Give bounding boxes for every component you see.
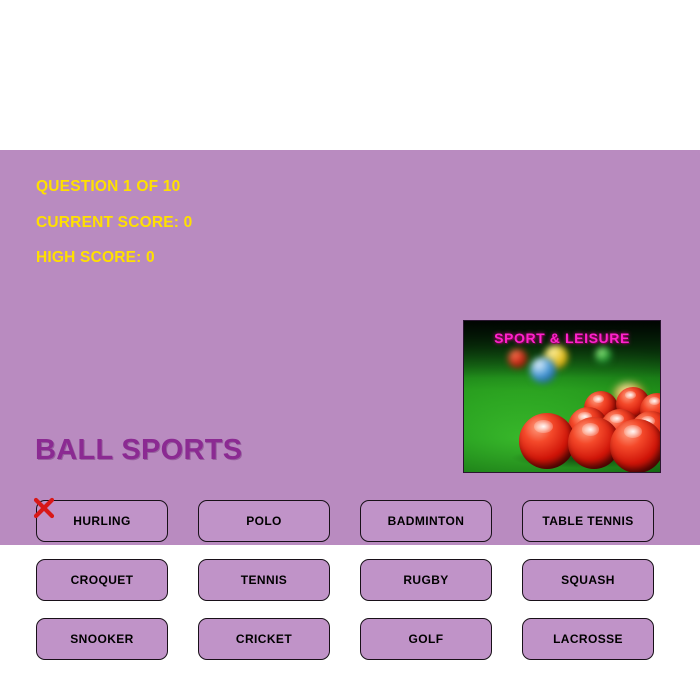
answer-button-tennis[interactable]: TENNIS — [198, 559, 330, 601]
blurred-blue-ball-icon — [530, 357, 556, 383]
high-score: HIGH SCORE: 0 — [36, 250, 436, 266]
answer-button-cricket[interactable]: CRICKET — [198, 618, 330, 660]
answer-row: CROQUET TENNIS RUGBY SQUASH — [36, 559, 660, 601]
answer-button-croquet[interactable]: CROQUET — [36, 559, 168, 601]
page-title: BALL SPORTS — [35, 436, 242, 465]
answer-button-rugby[interactable]: RUGBY — [360, 559, 492, 601]
current-score: CURRENT SCORE: 0 — [36, 215, 436, 231]
answer-button-polo[interactable]: POLO — [198, 500, 330, 542]
answer-button-lacrosse[interactable]: LACROSSE — [522, 618, 654, 660]
answer-button-golf[interactable]: GOLF — [360, 618, 492, 660]
red-ball-icon — [610, 419, 661, 473]
image-caption: SPORT & LEISURE — [464, 330, 660, 346]
topic-image: SPORT & LEISURE — [463, 320, 661, 473]
answer-button-table-tennis[interactable]: TABLE TENNIS — [522, 500, 654, 542]
answer-row: HURLING POLO BADMINTON TABLE TENNIS — [36, 500, 660, 542]
answer-row: SNOOKER CRICKET GOLF LACROSSE — [36, 618, 660, 660]
answer-button-hurling[interactable]: HURLING — [36, 500, 168, 542]
question-counter: QUESTION 1 OF 10 — [36, 179, 436, 195]
answer-button-squash[interactable]: SQUASH — [522, 559, 654, 601]
blurred-green-ball-icon — [595, 347, 612, 364]
answer-button-snooker[interactable]: SNOOKER — [36, 618, 168, 660]
answer-grid: HURLING POLO BADMINTON TABLE TENNIS CROQ… — [36, 500, 660, 677]
blurred-red-ball-icon — [508, 349, 527, 368]
answer-button-badminton[interactable]: BADMINTON — [360, 500, 492, 542]
status-block: QUESTION 1 OF 10 CURRENT SCORE: 0 HIGH S… — [36, 179, 436, 286]
quiz-panel: QUESTION 1 OF 10 CURRENT SCORE: 0 HIGH S… — [0, 150, 700, 545]
red-ball-icon — [519, 413, 575, 469]
